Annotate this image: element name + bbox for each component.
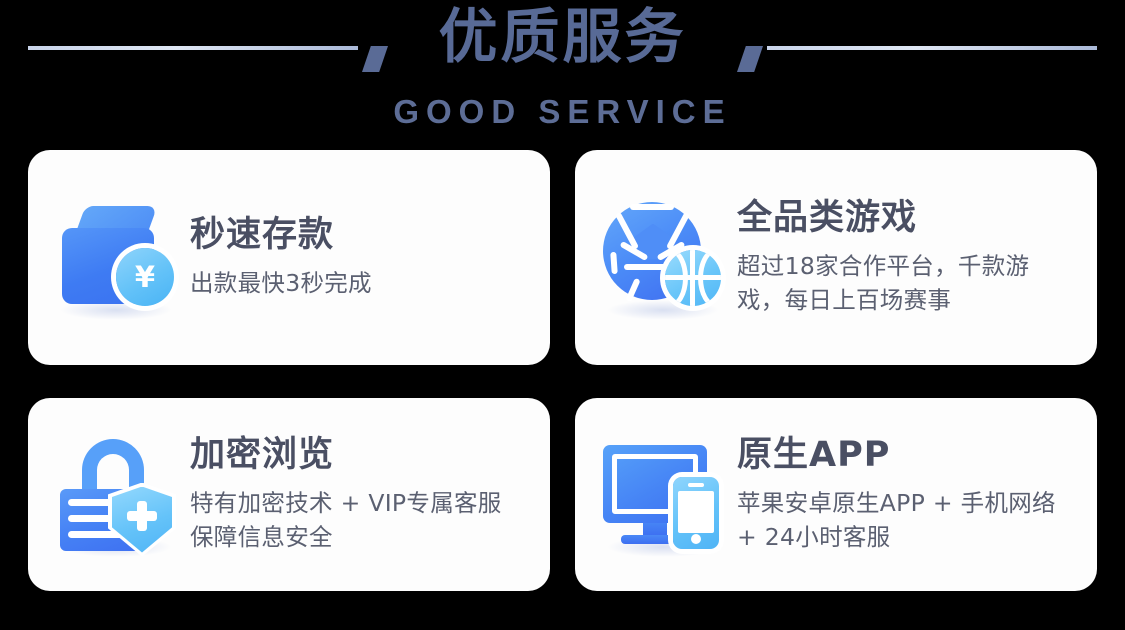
phone-screen [678,491,714,533]
wallet-graphic: ¥ [58,206,178,310]
monitor-phone-icon [599,429,731,561]
monitor-stand-neck [643,523,667,536]
feature-card-all-games[interactable]: 全品类游戏 超过18家合作平台，千款游戏，每日上百场赛事 [575,150,1097,365]
card-title: 加密浏览 [190,435,520,476]
phone-speaker [688,483,704,487]
wallet-coin-icon: ¥ [52,192,184,324]
card-title: 原生APP [737,435,1073,476]
basketball-seam [665,250,688,306]
basketball-seam [698,250,721,306]
yuan-coin-icon: ¥ [116,248,174,306]
device-graphic [603,445,727,545]
card-title: 秒速存款 [190,215,372,256]
soccer-seam [610,251,618,273]
card-subtitle: 出款最快3秒完成 [190,266,372,300]
soccer-basketball-icon [599,192,731,324]
feature-card-native-app[interactable]: 原生APP 苹果安卓原生APP + 手机网络 + 24小时客服 [575,398,1097,591]
phone-icon [673,477,719,549]
card-subtitle: 特有加密技术 + VIP专属客服保障信息安全 [190,486,520,554]
feature-card-grid: ¥ 秒速存款 出款最快3秒完成 [28,150,1097,592]
card-text-block: 加密浏览 特有加密技术 + VIP专属客服保障信息安全 [190,435,534,553]
soccer-seam [630,204,674,210]
soccer-seam [625,277,640,301]
balls-graphic [603,202,727,312]
card-text-block: 全品类游戏 超过18家合作平台，千款游戏，每日上百场赛事 [737,198,1087,316]
card-title: 全品类游戏 [737,198,1073,239]
lock-slot [68,515,114,522]
panel-header: 优质服务 GOOD SERVICE [0,0,1125,140]
feature-card-encrypted-browsing[interactable]: 加密浏览 特有加密技术 + VIP专属客服保障信息安全 [28,398,550,591]
promo-panel: 优质服务 GOOD SERVICE ¥ 秒速存款 出款最快3秒完成 [0,0,1125,630]
page-title: 优质服务 [0,6,1125,68]
card-subtitle: 苹果安卓原生APP + 手机网络 + 24小时客服 [737,486,1073,554]
basketball-icon [665,250,721,306]
lock-shield-icon [52,429,184,561]
phone-home-button [691,534,701,544]
page-subtitle: GOOD SERVICE [0,92,1125,132]
feature-card-instant-deposit[interactable]: ¥ 秒速存款 出款最快3秒完成 [28,150,550,365]
lock-graphic [60,439,178,551]
card-subtitle: 超过18家合作平台，千款游戏，每日上百场赛事 [737,249,1073,317]
card-text-block: 原生APP 苹果安卓原生APP + 手机网络 + 24小时客服 [737,435,1087,553]
card-text-block: 秒速存款 出款最快3秒完成 [190,215,386,299]
